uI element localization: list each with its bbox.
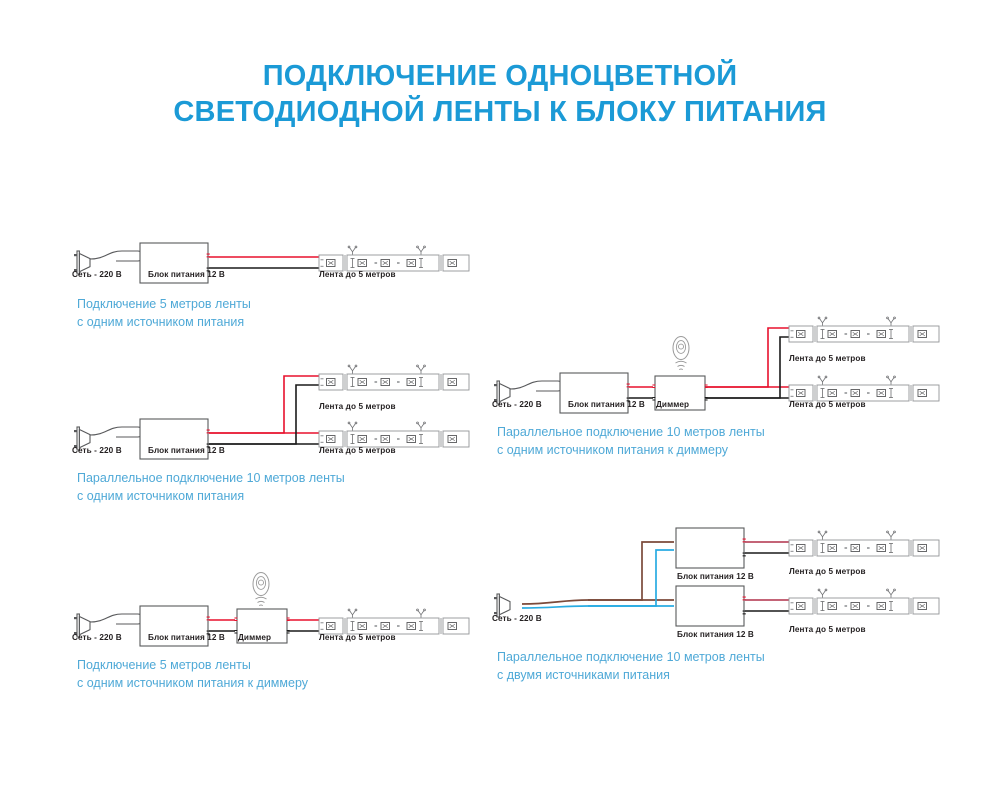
remote-control-icon [673, 337, 689, 370]
label-led-strip: Лента до 5 метров [319, 446, 396, 455]
diagram-4-caption-line2: с одним источником питания к диммеру [497, 441, 765, 459]
label-dimmer: Диммер [656, 400, 689, 409]
label-power-supply: Блок питания 12 В [677, 572, 754, 581]
page-title: ПОДКЛЮЧЕНИЕ ОДНОЦВЕТНОЙ СВЕТОДИОДНОЙ ЛЕН… [0, 58, 1000, 130]
diagram-two-strips-single-psu: Сеть - 220 В Блок питания 12 В Лента до … [72, 368, 492, 518]
diagram-2-caption: Параллельное подключение 10 метров ленты… [77, 469, 345, 505]
led-strip-icon [789, 589, 939, 614]
label-power-supply: Блок питания 12 В [568, 400, 645, 409]
led-strip-icon [789, 376, 939, 401]
diagram-3-caption: Подключение 5 метров ленты с одним источ… [77, 656, 308, 692]
diagram-single-strip-dimmer: Сеть - 220 В Блок питания 12 В Диммер Ле… [72, 572, 492, 702]
diagram-two-strips-dimmer: Сеть - 220 В Блок питания 12 В Диммер Ле… [492, 320, 932, 470]
remote-control-icon [253, 573, 269, 606]
wire-live-brown-branch [522, 542, 674, 604]
diagram-1-caption-line1: Подключение 5 метров ленты [77, 297, 251, 311]
label-led-strip: Лента до 5 метров [789, 400, 866, 409]
label-led-strip: Лента до 5 метров [789, 567, 866, 576]
label-mains: Сеть - 220 В [72, 633, 122, 642]
diagram-2-caption-line1: Параллельное подключение 10 метров ленты [77, 471, 345, 485]
diagram-3-caption-line2: с одним источником питания к диммеру [77, 674, 308, 692]
label-led-strip: Лента до 5 метров [319, 633, 396, 642]
label-led-strip: Лента до 5 метров [319, 402, 396, 411]
diagram-5-caption: Параллельное подключение 10 метров ленты… [497, 648, 765, 684]
wire-negative-branch [209, 385, 319, 444]
page-title-line2: СВЕТОДИОДНОЙ ЛЕНТЫ К БЛОКУ ПИТАНИЯ [0, 94, 1000, 130]
diagram-5-svg [492, 522, 932, 642]
led-strip-icon [319, 422, 469, 447]
label-mains: Сеть - 220 В [72, 446, 122, 455]
led-strip-icon [789, 317, 939, 342]
led-strip-icon [789, 531, 939, 556]
page-title-line1: ПОДКЛЮЧЕНИЕ ОДНОЦВЕТНОЙ [263, 60, 738, 92]
diagram-3-caption-line1: Подключение 5 метров ленты [77, 658, 251, 672]
diagram-single-strip-single-psu: Сеть - 220 В Блок питания 12 В Лента до … [72, 238, 492, 348]
label-led-strip: Лента до 5 метров [319, 270, 396, 279]
diagram-4-caption-line1: Параллельное подключение 10 метров ленты [497, 425, 765, 439]
diagram-two-strips-two-psu: Сеть - 220 В Блок питания 12 В Блок пита… [492, 522, 932, 682]
label-power-supply: Блок питания 12 В [148, 633, 225, 642]
diagram-5-caption-line2: с двумя источниками питания [497, 666, 765, 684]
label-power-supply: Блок питания 12 В [677, 630, 754, 639]
diagram-4-caption: Параллельное подключение 10 метров ленты… [497, 423, 765, 459]
led-strip-icon [319, 609, 469, 634]
label-mains: Сеть - 220 В [72, 270, 122, 279]
power-supply-icon [676, 586, 746, 626]
wire-positive-branch [705, 328, 789, 387]
label-led-strip: Лента до 5 метров [789, 354, 866, 363]
diagram-1-caption: Подключение 5 метров ленты с одним источ… [77, 295, 251, 331]
diagram-5-caption-line1: Параллельное подключение 10 метров ленты [497, 650, 765, 664]
diagram-2-caption-line2: с одним источником питания [77, 487, 345, 505]
power-supply-icon [676, 528, 746, 568]
led-strip-icon [319, 246, 469, 271]
label-mains: Сеть - 220 В [492, 400, 542, 409]
diagram-2-svg [72, 368, 492, 478]
led-strip-icon [319, 365, 469, 390]
label-power-supply: Блок питания 12 В [148, 270, 225, 279]
diagram-4-svg [492, 320, 932, 430]
label-dimmer: Диммер [238, 633, 271, 642]
wire-negative-branch [705, 337, 789, 398]
label-led-strip: Лента до 5 метров [789, 625, 866, 634]
label-power-supply: Блок питания 12 В [148, 446, 225, 455]
diagram-3-svg [72, 572, 492, 662]
diagram-1-caption-line2: с одним источником питания [77, 313, 251, 331]
label-mains: Сеть - 220 В [492, 614, 542, 623]
